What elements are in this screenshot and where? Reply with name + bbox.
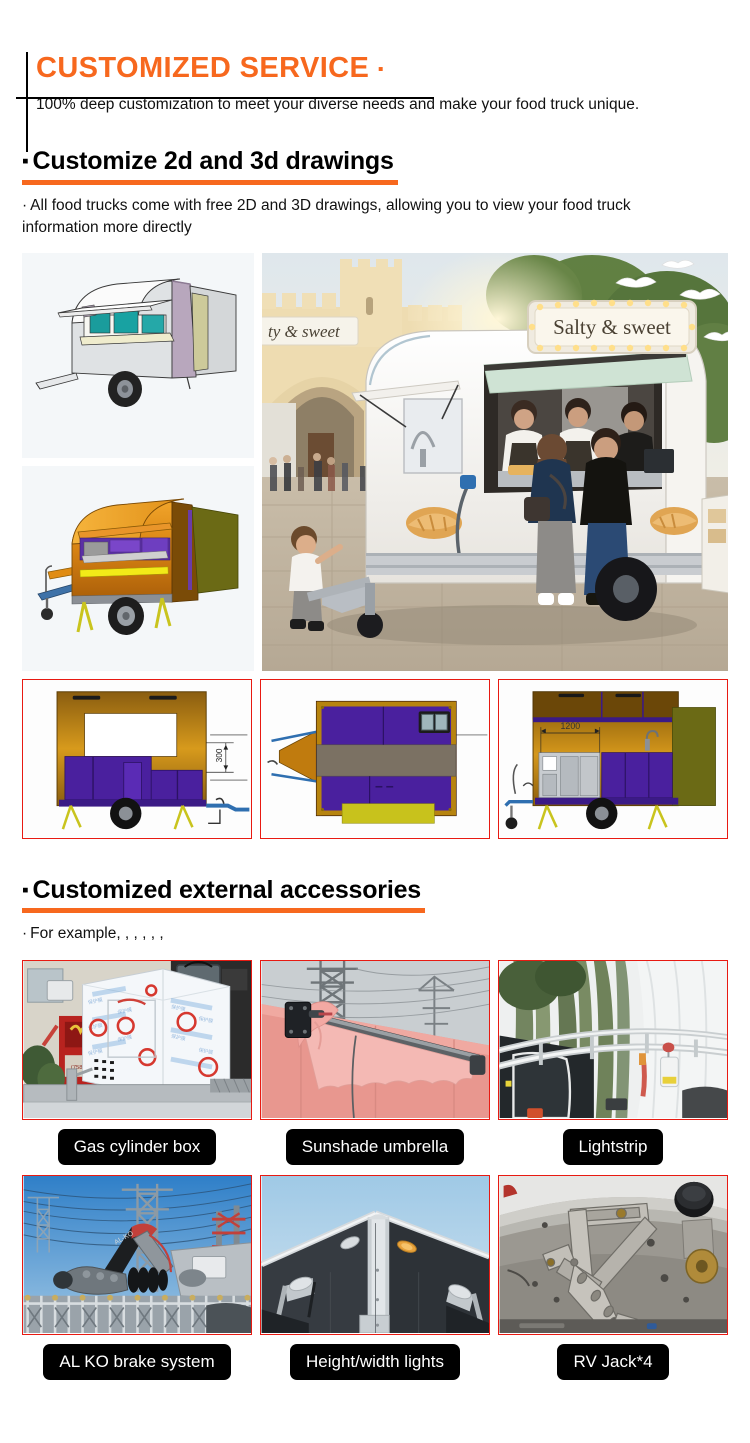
caption-lightstrip: Lightstrip [563,1129,664,1165]
caption-gas-cylinder-box: Gas cylinder box [58,1129,217,1165]
accessory-gas-cylinder-box: (758) 822 保护膜 保护膜 保护膜 保护膜 [22,960,252,1120]
page-title-text: CUSTOMIZED SERVICE [36,52,369,84]
croissant-decal-right [650,507,698,535]
height-width-lights-photo [261,1176,490,1333]
accessory-alko-brake-system: AL-KO [22,1175,252,1335]
section-accessories-note: ·For example, , , , , , [22,923,728,945]
section-bullet-icon: ▪ [22,151,33,172]
page-header: CUSTOMIZED SERVICE ▪ 100% deep customiza… [0,0,750,116]
sunshade-umbrella-photo [261,961,490,1118]
accessory-captions-row-1: Gas cylinder box Sunshade umbrella Light… [0,1129,750,1165]
caption-rv-jack: RV Jack*4 [557,1344,668,1380]
accessory-row-1: (758) 822 保护膜 保护膜 保护膜 保护膜 [0,960,750,1120]
alko-brake-system-photo: AL-KO [23,1176,252,1333]
caption-height-width-lights: Height/width lights [290,1344,460,1380]
arch-sign-text: ty & sweet [268,322,341,341]
section-accessories-note-text: For example, , , , , , [30,925,164,942]
2d-drawing-top-view-svg [261,680,490,837]
section-drawings-heading-text: Customize 2d and 3d drawings [33,147,394,175]
note-bullet-icon: · [22,925,30,942]
drawings-media-row: ty & sweet [0,253,750,671]
accessory-rv-jack [498,1175,728,1335]
2d-drawing-top-view [260,679,490,839]
accessory-captions-row-2: AL KO brake system Height/width lights R… [0,1344,750,1380]
2d-drawings-row: 300 [0,679,750,839]
accessory-sunshade-umbrella [260,960,490,1120]
dimension-label-1200: 1200 [561,721,581,731]
header-vertical-rule [26,52,28,152]
cad-3d-orange-svg [22,466,254,671]
title-square-marker: ▪ [378,61,384,78]
caption-alko-brake-system: AL KO brake system [43,1344,230,1380]
rv-jack-photo [499,1176,728,1333]
page-title: CUSTOMIZED SERVICE ▪ [0,52,750,85]
chalkboard-sign [702,495,728,593]
section-accessories-heading: ▪Customized external accessories [22,875,425,914]
staff-members [502,398,656,475]
food-truck-photo-svg: ty & sweet [262,253,728,671]
header-horizontal-rule [16,97,434,99]
croissant-decal-left [406,507,462,539]
2d-drawing-interior-side: 1200 [498,679,728,839]
accessory-height-width-lights [260,1175,490,1335]
cad-3d-white-svg [22,253,254,458]
marquee-sign-text: Salty & sweet [553,315,671,339]
lightstrip-photo [499,961,728,1118]
gas-cylinder-box-photo: (758) 822 保护膜 保护膜 保护膜 保护膜 [23,961,252,1118]
2d-drawing-side-hatch: 300 [22,679,252,839]
section-bullet-icon: ▪ [22,880,33,901]
section-drawings-note-text: All food trucks come with free 2D and 3D… [22,197,631,236]
accessory-lightstrip [498,960,728,1120]
section-accessories-heading-text: Customized external accessories [33,876,421,904]
note-bullet-icon: · [22,197,30,214]
section-drawings-note: ·All food trucks come with free 2D and 3… [22,195,728,240]
2d-drawing-interior-side-svg: 1200 [499,680,728,837]
caption-sunshade-umbrella: Sunshade umbrella [286,1129,464,1165]
2d-drawing-side-hatch-svg: 300 [23,680,252,837]
cad-render-column [22,253,254,671]
section-accessories: ▪Customized external accessories ·For ex… [0,875,750,1380]
cad-3d-orange-render [22,466,254,671]
marquee-sign: Salty & sweet [528,300,696,353]
accessory-row-2: AL-KO [0,1175,750,1335]
food-truck-photo: ty & sweet [262,253,728,671]
dimension-label-300: 300 [214,748,224,762]
cad-3d-white-render [22,253,254,458]
section-drawings-heading: ▪Customize 2d and 3d drawings [22,146,398,185]
section-drawings: ▪Customize 2d and 3d drawings ·All food … [0,146,750,838]
